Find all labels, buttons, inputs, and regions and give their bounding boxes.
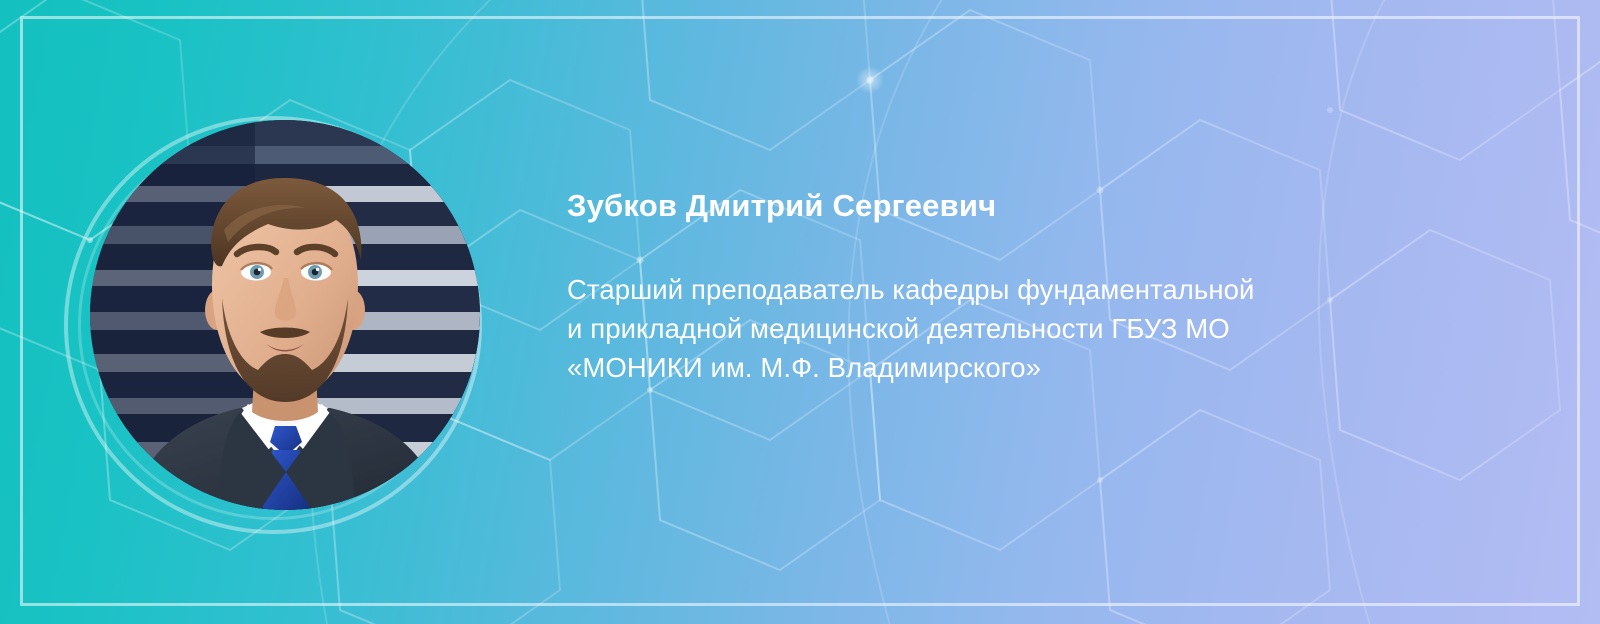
person-role-line-3: «МОНИКИ им. М.Ф. Владимирского» xyxy=(567,348,1467,387)
person-role-line-1: Старший преподаватель кафедры фундамента… xyxy=(567,270,1467,309)
avatar-photo xyxy=(90,120,480,510)
avatar xyxy=(56,104,496,544)
page-title: Зубков Дмитрий Сергеевич xyxy=(567,186,1467,226)
person-role-line-2: и прикладной медицинской деятельности ГБ… xyxy=(567,309,1467,348)
person-role: Старший преподаватель кафедры фундамента… xyxy=(567,226,1467,387)
speaker-info: Зубков Дмитрий Сергеевич Старший препода… xyxy=(567,186,1467,387)
speaker-banner: Зубков Дмитрий Сергеевич Старший препода… xyxy=(0,0,1600,624)
